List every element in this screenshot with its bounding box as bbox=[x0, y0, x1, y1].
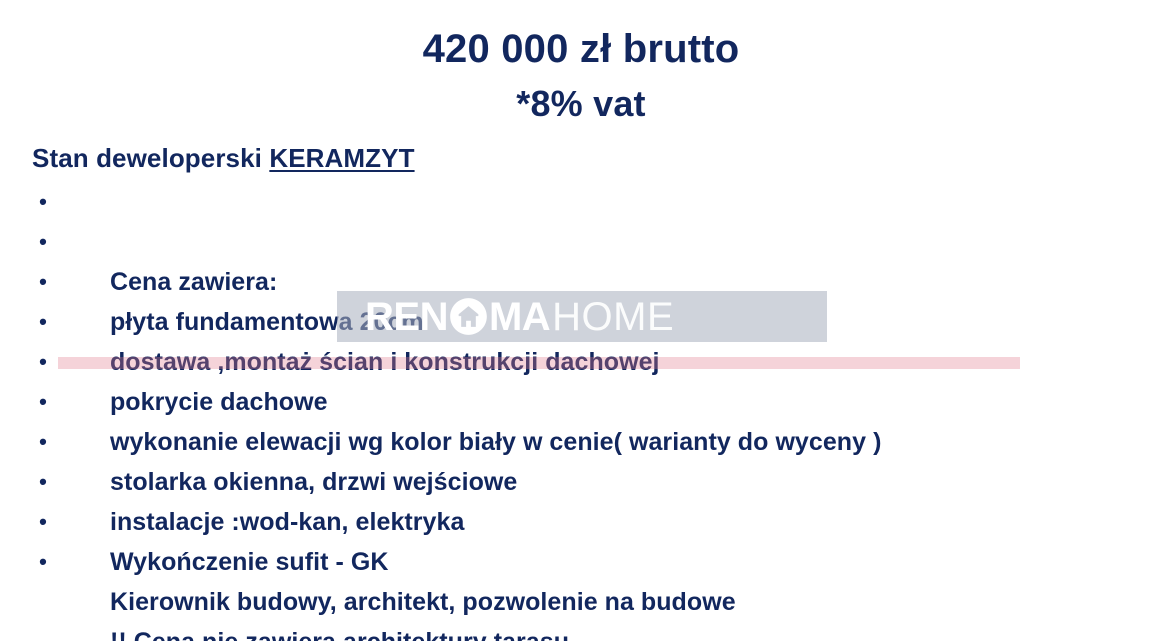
bullet-icon: • bbox=[36, 462, 50, 502]
list-item: • wykonanie elewacji wg kolor biały w ce… bbox=[30, 342, 1140, 382]
list-item: • stolarka okienna, drzwi wejściowe bbox=[30, 382, 1140, 422]
standard-lead-line: Stan deweloperski KERAMZYT bbox=[32, 143, 415, 174]
bullet-icon: • bbox=[36, 222, 50, 262]
bullet-icon: • bbox=[36, 342, 50, 382]
lead-prefix: Stan deweloperski bbox=[32, 143, 269, 173]
bullet-icon: • bbox=[36, 502, 50, 542]
list-item: • płyta fundamentowa 20cm bbox=[30, 222, 1140, 262]
bullet-icon: • bbox=[36, 422, 50, 462]
list-item-label: !! Cena nie zawiera architektury tarasu bbox=[110, 628, 569, 641]
list-item-label: Kierownik budowy, architekt, pozwolenie … bbox=[110, 588, 736, 616]
list-item: • instalacje :wod-kan, elektryka bbox=[30, 422, 1140, 462]
lead-emphasis-keramzyt: KERAMZYT bbox=[269, 143, 414, 173]
list-item: • Cena zawiera: bbox=[30, 182, 1140, 222]
bullet-icon: • bbox=[36, 382, 50, 422]
list-item: • Kierownik budowy, architekt, pozwoleni… bbox=[30, 502, 1140, 542]
bullet-icon: • bbox=[36, 542, 50, 582]
price-headline: 420 000 zł brutto bbox=[0, 26, 1162, 73]
list-item: • dostawa ,montaż ścian i konstrukcji da… bbox=[30, 262, 1140, 302]
list-item: • pokrycie dachowe bbox=[30, 302, 1140, 342]
inclusions-list: • Cena zawiera: • płyta fundamentowa 20c… bbox=[30, 182, 1140, 582]
bullet-icon: • bbox=[36, 262, 50, 302]
offer-page: 420 000 zł brutto *8% vat Stan deweloper… bbox=[0, 0, 1162, 641]
list-item: • !! Cena nie zawiera architektury taras… bbox=[30, 542, 1140, 582]
vat-headline: *8% vat bbox=[0, 82, 1162, 125]
headline-block: 420 000 zł brutto *8% vat bbox=[0, 26, 1162, 125]
list-item: • Wykończenie sufit - GK bbox=[30, 462, 1140, 502]
bullet-icon: • bbox=[36, 302, 50, 342]
bullet-icon: • bbox=[36, 182, 50, 222]
